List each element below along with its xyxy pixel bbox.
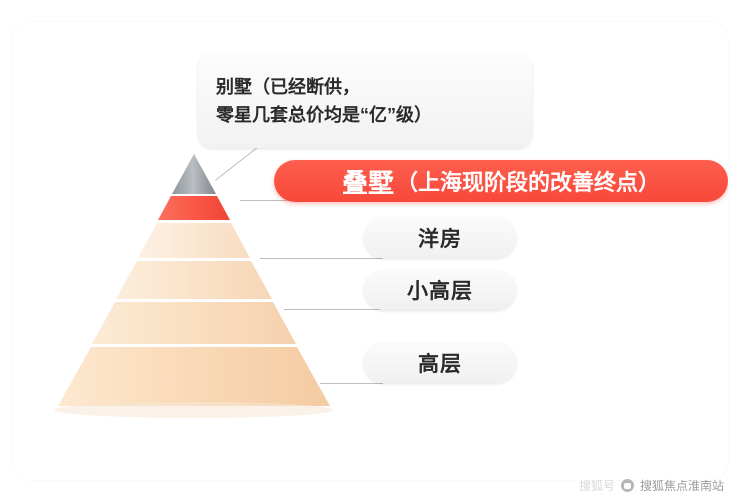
tier-band-middle — [92, 302, 296, 344]
label-stacked-rest: （上海现阶段的改善终点） — [396, 165, 660, 197]
label-stacked[interactable]: 叠墅 （上海现阶段的改善终点） — [274, 160, 728, 202]
label-villa-line1: 别墅（已经断供， — [216, 73, 360, 101]
label-gaoceng-text: 高层 — [418, 348, 462, 378]
label-gaoceng[interactable]: 高层 — [364, 343, 516, 383]
pyramid-shadow — [54, 402, 334, 418]
label-villa-line2: 零星几套总价均是“亿”级） — [216, 101, 432, 129]
label-xiaogaoceng-text: 小高层 — [407, 275, 473, 305]
tier-band-yangfang — [138, 223, 250, 258]
connector-gaoceng — [320, 383, 383, 384]
label-xiaogaoceng[interactable]: 小高层 — [364, 270, 516, 310]
watermark-text: 搜狐焦点淮南站 — [640, 477, 724, 494]
watermark-ghost-text: 搜狐号 — [579, 477, 615, 494]
screenshot-root: 别墅（已经断供， 零星几套总价均是“亿”级） 叠墅 （上海现阶段的改善终点） 洋… — [0, 0, 740, 502]
tier-band-stacked — [158, 196, 230, 220]
tier-band-xiaogaoceng — [116, 261, 272, 299]
connector-xiaogaoceng — [284, 309, 381, 310]
diagram-card: 别墅（已经断供， 零星几套总价均是“亿”级） 叠墅 （上海现阶段的改善终点） 洋… — [12, 22, 728, 480]
sohu-logo-icon — [621, 479, 634, 492]
label-yangfang-text: 洋房 — [418, 223, 462, 253]
label-yangfang[interactable]: 洋房 — [364, 218, 516, 258]
connector-stacked — [240, 200, 290, 201]
tier-apex-villa — [172, 154, 216, 194]
label-villa[interactable]: 别墅（已经断供， 零星几套总价均是“亿”级） — [198, 54, 532, 148]
connector-yangfang — [260, 258, 383, 259]
watermark: 搜狐号 搜狐焦点淮南站 — [579, 477, 724, 494]
label-stacked-lead: 叠墅 — [342, 163, 394, 200]
tier-band-gaoceng — [58, 347, 330, 406]
